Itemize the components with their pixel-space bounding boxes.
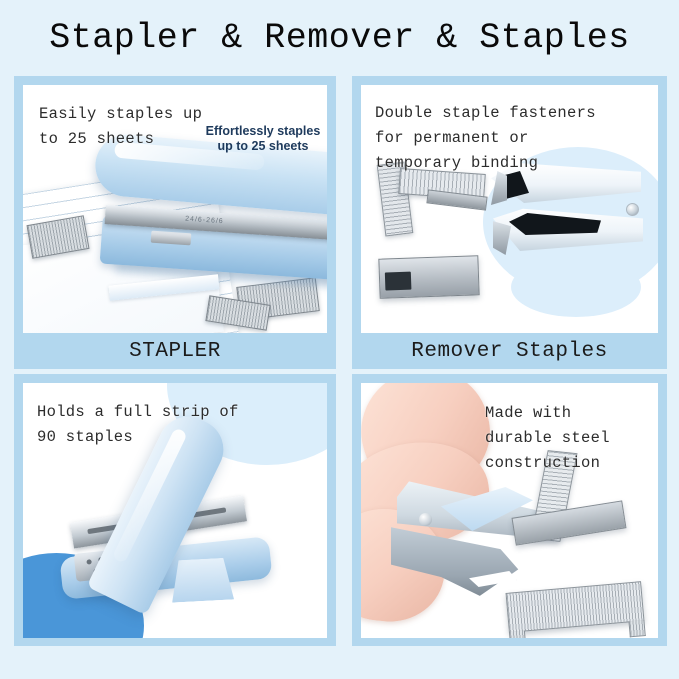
page-title: Stapler & Remover & Staples [0,17,679,59]
stapler-size-marking: 24/6-26/6 [185,216,224,226]
remover-claw-tip [491,171,507,205]
panel-caption-stapler: STAPLER [23,333,327,369]
overlay-text-stapler-capacity: Easily staples up to 25 sheets [39,102,202,152]
panel-image-stapler-capacity: 24/6-26/6 Easily staples up to 25 sheets… [23,85,327,333]
panel-steel-construction: Made with durable steel construction [352,374,667,646]
staple-box-illustration [378,255,479,298]
staple-box-opening [385,272,412,291]
decorative-blob [511,257,641,317]
overlay-text-remover-staples: Double staple fasteners for permanent or… [375,101,596,176]
panel-grid: 24/6-26/6 Easily staples up to 25 sheets… [14,76,667,646]
panel-remover-staples: Double staple fasteners for permanent or… [352,76,667,369]
remover-rivet [626,203,639,216]
staple-leg [628,620,645,637]
panel-image-steel-construction: Made with durable steel construction [361,383,658,638]
product-feature-infographic: Stapler & Remover & Staples 24 [0,0,679,679]
staple-leg [509,630,526,638]
panel-image-remover-staples: Double staple fasteners for permanent or… [361,85,658,333]
panel-staple-strip-capacity: Holds a full strip of 90 staples [14,374,336,646]
panel-stapler-capacity: 24/6-26/6 Easily staples up to 25 sheets… [14,76,336,369]
overlay-text-steel-construction: Made with durable steel construction [485,401,610,476]
panel-caption-remover-staples: Remover Staples [361,333,658,369]
panel-image-staple-strip-capacity: Holds a full strip of 90 staples [23,383,327,638]
remover-rivet [419,513,432,526]
panel-caption-staple-strip-capacity [23,638,327,646]
stapler-support-foot [170,557,234,602]
overlay-text-staple-strip-capacity: Holds a full strip of 90 staples [37,400,239,450]
panel-caption-steel-construction [361,638,658,646]
anvil-dot [86,559,91,564]
inner-packshot-badge: Effortlessly staples up to 25 sheets [200,124,326,154]
